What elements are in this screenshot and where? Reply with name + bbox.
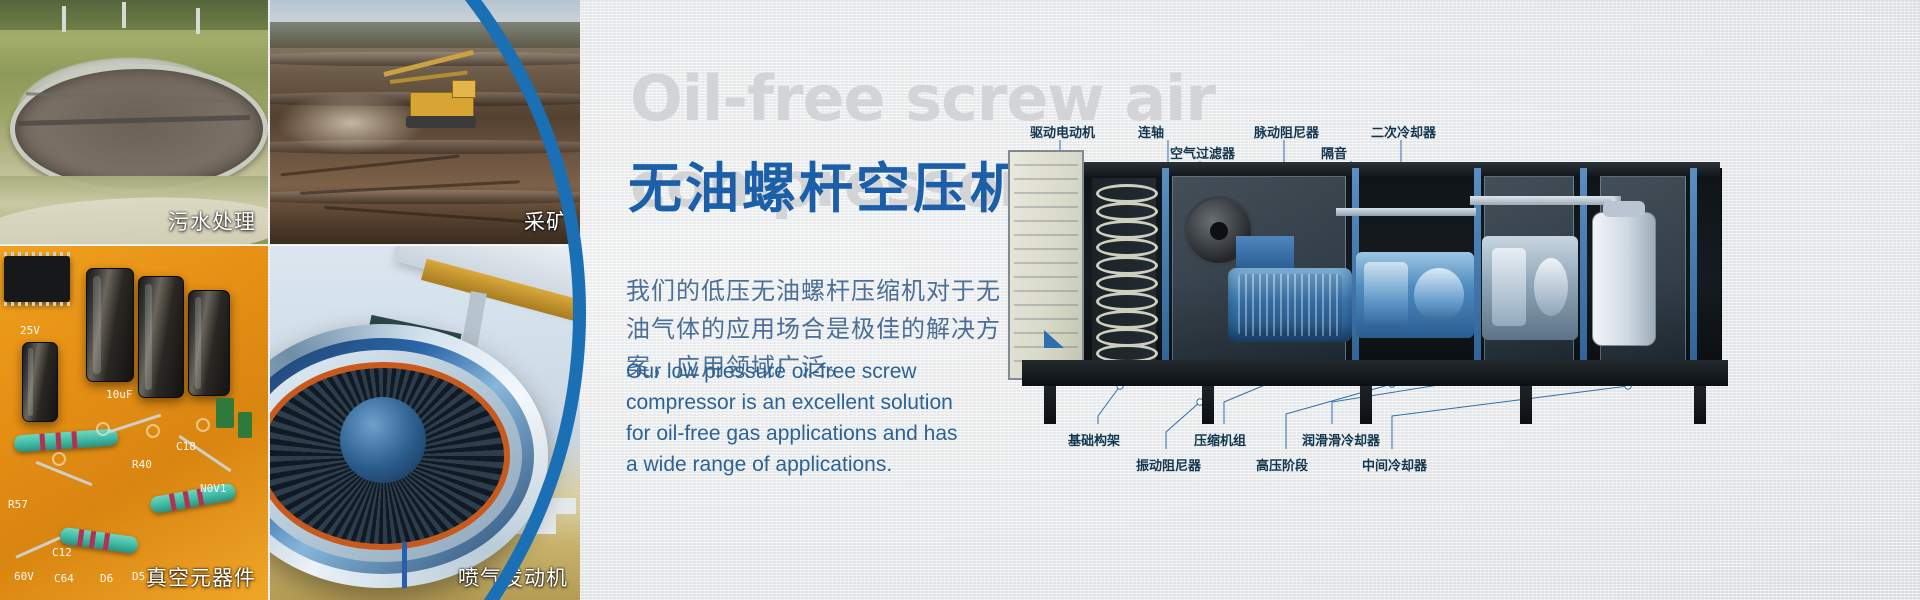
callout-leader: [1392, 386, 1628, 449]
banner-root: 污水处理 采: [0, 0, 1920, 600]
callout-label: 中间冷却器: [1362, 455, 1427, 474]
base-frame: [1022, 360, 1728, 386]
compressor-canopy: [1030, 162, 1720, 176]
pcb-image: 25V 10uF C18 R40 N0V1 R57 C12 60V C64 D6…: [0, 246, 268, 600]
compressor-airend: [1356, 252, 1474, 338]
inlet-pipe: [1336, 208, 1476, 216]
aftercooler-tank: [1592, 212, 1656, 346]
photo-grid: 污水处理 采: [0, 0, 580, 600]
high-pressure-stage: [1482, 236, 1578, 340]
vibration-damper-leg: [1360, 386, 1372, 424]
callout-label: 连轴: [1138, 122, 1164, 141]
motor-terminal-box: [1236, 236, 1294, 270]
frame-post: [1162, 168, 1169, 368]
callout-label: 二次冷却器: [1371, 122, 1436, 141]
callout-label: 隔音: [1321, 143, 1347, 162]
callout-label: 高压阶段: [1256, 455, 1308, 474]
description-english: Our low pressure oil-free screw compress…: [626, 356, 986, 480]
frame-post: [1690, 168, 1697, 368]
callout-label: 空气过滤器: [1170, 143, 1235, 162]
description-english-line: for oil-free gas applications and has: [626, 418, 986, 449]
callout-label: 压缩机组: [1194, 430, 1246, 449]
page-title: 无油螺杆空压机: [628, 144, 1027, 223]
callout-label: 润滑滑冷却器: [1302, 430, 1380, 449]
photo-sewage-treatment[interactable]: 污水处理: [0, 0, 268, 244]
callout-label: 基础构架: [1068, 430, 1120, 449]
jet-engine-image: [270, 246, 580, 600]
coil-bundle: [1092, 178, 1156, 360]
drive-motor: [1228, 268, 1352, 342]
callout-label: 脉动阻尼器: [1254, 122, 1319, 141]
description-english-line: a wide range of applications.: [626, 449, 986, 480]
discharge-pipe: [1470, 196, 1620, 205]
vibration-damper-leg: [1694, 386, 1706, 424]
photo-caption: 喷气发动机: [458, 562, 568, 592]
compressor-diagram: 驱动电动机空气过滤器连轴脉动阻尼器隔音二次冷却器基础构架振动阻尼器压缩机组高压阶…: [1000, 0, 1920, 600]
vibration-damper-leg: [1520, 386, 1532, 424]
photo-caption: 污水处理: [168, 206, 256, 236]
blue-corner-accent: [1044, 330, 1064, 348]
photo-caption: 真空元器件: [146, 562, 256, 592]
callout-label: 驱动电动机: [1030, 122, 1095, 141]
photo-jet-engine[interactable]: 喷气发动机: [270, 246, 580, 600]
photo-caption: 采矿: [524, 206, 568, 236]
photo-vacuum-components[interactable]: 25V 10uF C18 R40 N0V1 R57 C12 60V C64 D6…: [0, 246, 268, 600]
vibration-damper-leg: [1044, 386, 1056, 424]
photo-mining[interactable]: 采矿: [270, 0, 580, 244]
description-english-line: compressor is an excellent solution: [626, 387, 986, 418]
vibration-damper-leg: [1202, 386, 1214, 424]
callout-label: 振动阻尼器: [1136, 455, 1201, 474]
description-english-line: Our low pressure oil-free screw: [626, 356, 986, 387]
callout-leader: [1098, 386, 1120, 424]
